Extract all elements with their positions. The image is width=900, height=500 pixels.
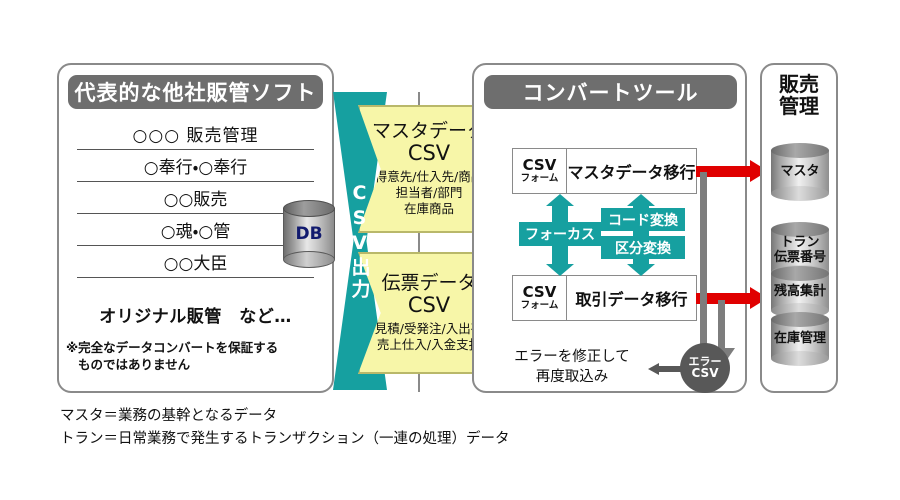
slip-csv-detail-1: 見積/受発注/入出荷	[375, 321, 483, 337]
csv-form-label: CSV	[523, 285, 557, 300]
master-csv-detail-1: 得意先/仕入先/商品	[375, 169, 483, 185]
disclaimer-line-1: ※完全なデータコンバートを保証する	[66, 340, 278, 355]
migration-name: 取引データ移行	[567, 276, 696, 320]
cylinder-label: 在庫管理	[771, 312, 829, 366]
category-conversion-label: 区分変換	[601, 236, 685, 259]
diagram-canvas: 代表的な他社販管ソフト ○○○ 販売管理 ○奉行・○奉行 ○○販売 ○魂・○管 …	[0, 0, 900, 500]
master-csv-detail-3: 在庫商品	[404, 201, 454, 217]
list-item: ○○○ 販売管理	[77, 118, 314, 150]
database-label: DB	[283, 200, 335, 268]
master-data-migration-box: CSV フォーム マスタデータ移行	[512, 148, 697, 194]
sales-management-title-line1: 販売	[762, 74, 836, 96]
code-conversion-label: コード変換	[601, 208, 685, 231]
legend-line-1: マスタ＝業務の基幹となるデータ	[60, 405, 700, 428]
error-text-line1: エラーを修正して	[497, 348, 647, 368]
sales-management-title-line2: 管理	[762, 96, 836, 118]
list-item: ○奉行・○奉行	[77, 150, 314, 182]
legend-line-2: トラン＝日常業務で発生するトランザクション（一連の処理）データ	[60, 428, 700, 451]
error-text-line2: 再度取込み	[497, 368, 647, 388]
slip-csv-title-line1: 伝票データ	[381, 273, 476, 294]
csv-output-arrow-label: CSV出力	[333, 92, 387, 390]
master-database-cylinder: マスタ	[771, 143, 829, 201]
cylinder-label: 残高集計	[771, 266, 829, 318]
list-item: ○魂・○管	[77, 214, 314, 246]
cylinder-label-line1: マスタ	[780, 165, 819, 180]
list-item: ○○大臣	[77, 246, 314, 278]
master-csv-detail-2: 担当者/部門	[396, 185, 463, 201]
arrow-shaft	[656, 366, 682, 372]
cylinder-label-line1: 残高集計	[774, 285, 826, 300]
master-csv-title-line1: マスタデータ	[372, 121, 486, 142]
legend: マスタ＝業務の基幹となるデータ トラン＝日常業務で発生するトランザクション（一連…	[60, 405, 700, 452]
slip-csv-title-line2: CSV	[408, 294, 450, 318]
error-correction-text: エラーを修正して 再度取込み	[497, 348, 647, 387]
transaction-error-flow-line	[718, 300, 725, 352]
legacy-software-list: ○○○ 販売管理 ○奉行・○奉行 ○○販売 ○魂・○管 ○○大臣	[77, 118, 314, 278]
sales-management-title: 販売 管理	[762, 74, 836, 117]
legacy-software-panel-title: 代表的な他社販管ソフト	[68, 75, 323, 109]
csv-form-cell: CSV フォーム	[513, 149, 567, 193]
cylinder-label-line2: 伝票番号	[774, 251, 826, 266]
master-error-flow-line	[700, 172, 707, 352]
master-csv-title-line2: CSV	[408, 142, 450, 166]
error-feedback-arrow-icon	[648, 363, 682, 375]
migration-name: マスタデータ移行	[567, 149, 696, 193]
disclaimer-line-2: ものではありません	[66, 357, 328, 374]
focus-label: フォーカス	[519, 222, 601, 246]
inventory-management-cylinder: 在庫管理	[771, 312, 829, 366]
error-csv-line2: CSV	[692, 367, 719, 380]
converter-tool-panel-title: コンバートツール	[484, 75, 737, 109]
csv-form-cell: CSV フォーム	[513, 276, 567, 320]
cylinder-label-line1: 在庫管理	[774, 332, 826, 347]
cylinder-label-line1: トラン	[780, 236, 819, 251]
balance-summary-cylinder: 残高集計	[771, 266, 829, 318]
slip-csv-detail-2: 売上仕入/入金支払	[377, 337, 481, 353]
cylinder-label: マスタ	[771, 143, 829, 201]
list-item: ○○販売	[77, 182, 314, 214]
error-csv-node: エラー CSV	[680, 343, 730, 393]
arrow-head	[648, 363, 659, 375]
csv-form-sublabel: フォーム	[521, 174, 559, 184]
database-cylinder-icon: DB	[283, 200, 335, 268]
disclaimer-note: ※完全なデータコンバートを保証する ものではありません	[66, 340, 328, 374]
legacy-software-extra-label: オリジナル販管 など…	[77, 302, 314, 327]
csv-form-label: CSV	[523, 158, 557, 173]
transaction-data-migration-box: CSV フォーム 取引データ移行	[512, 275, 697, 321]
csv-form-sublabel: フォーム	[521, 301, 559, 311]
